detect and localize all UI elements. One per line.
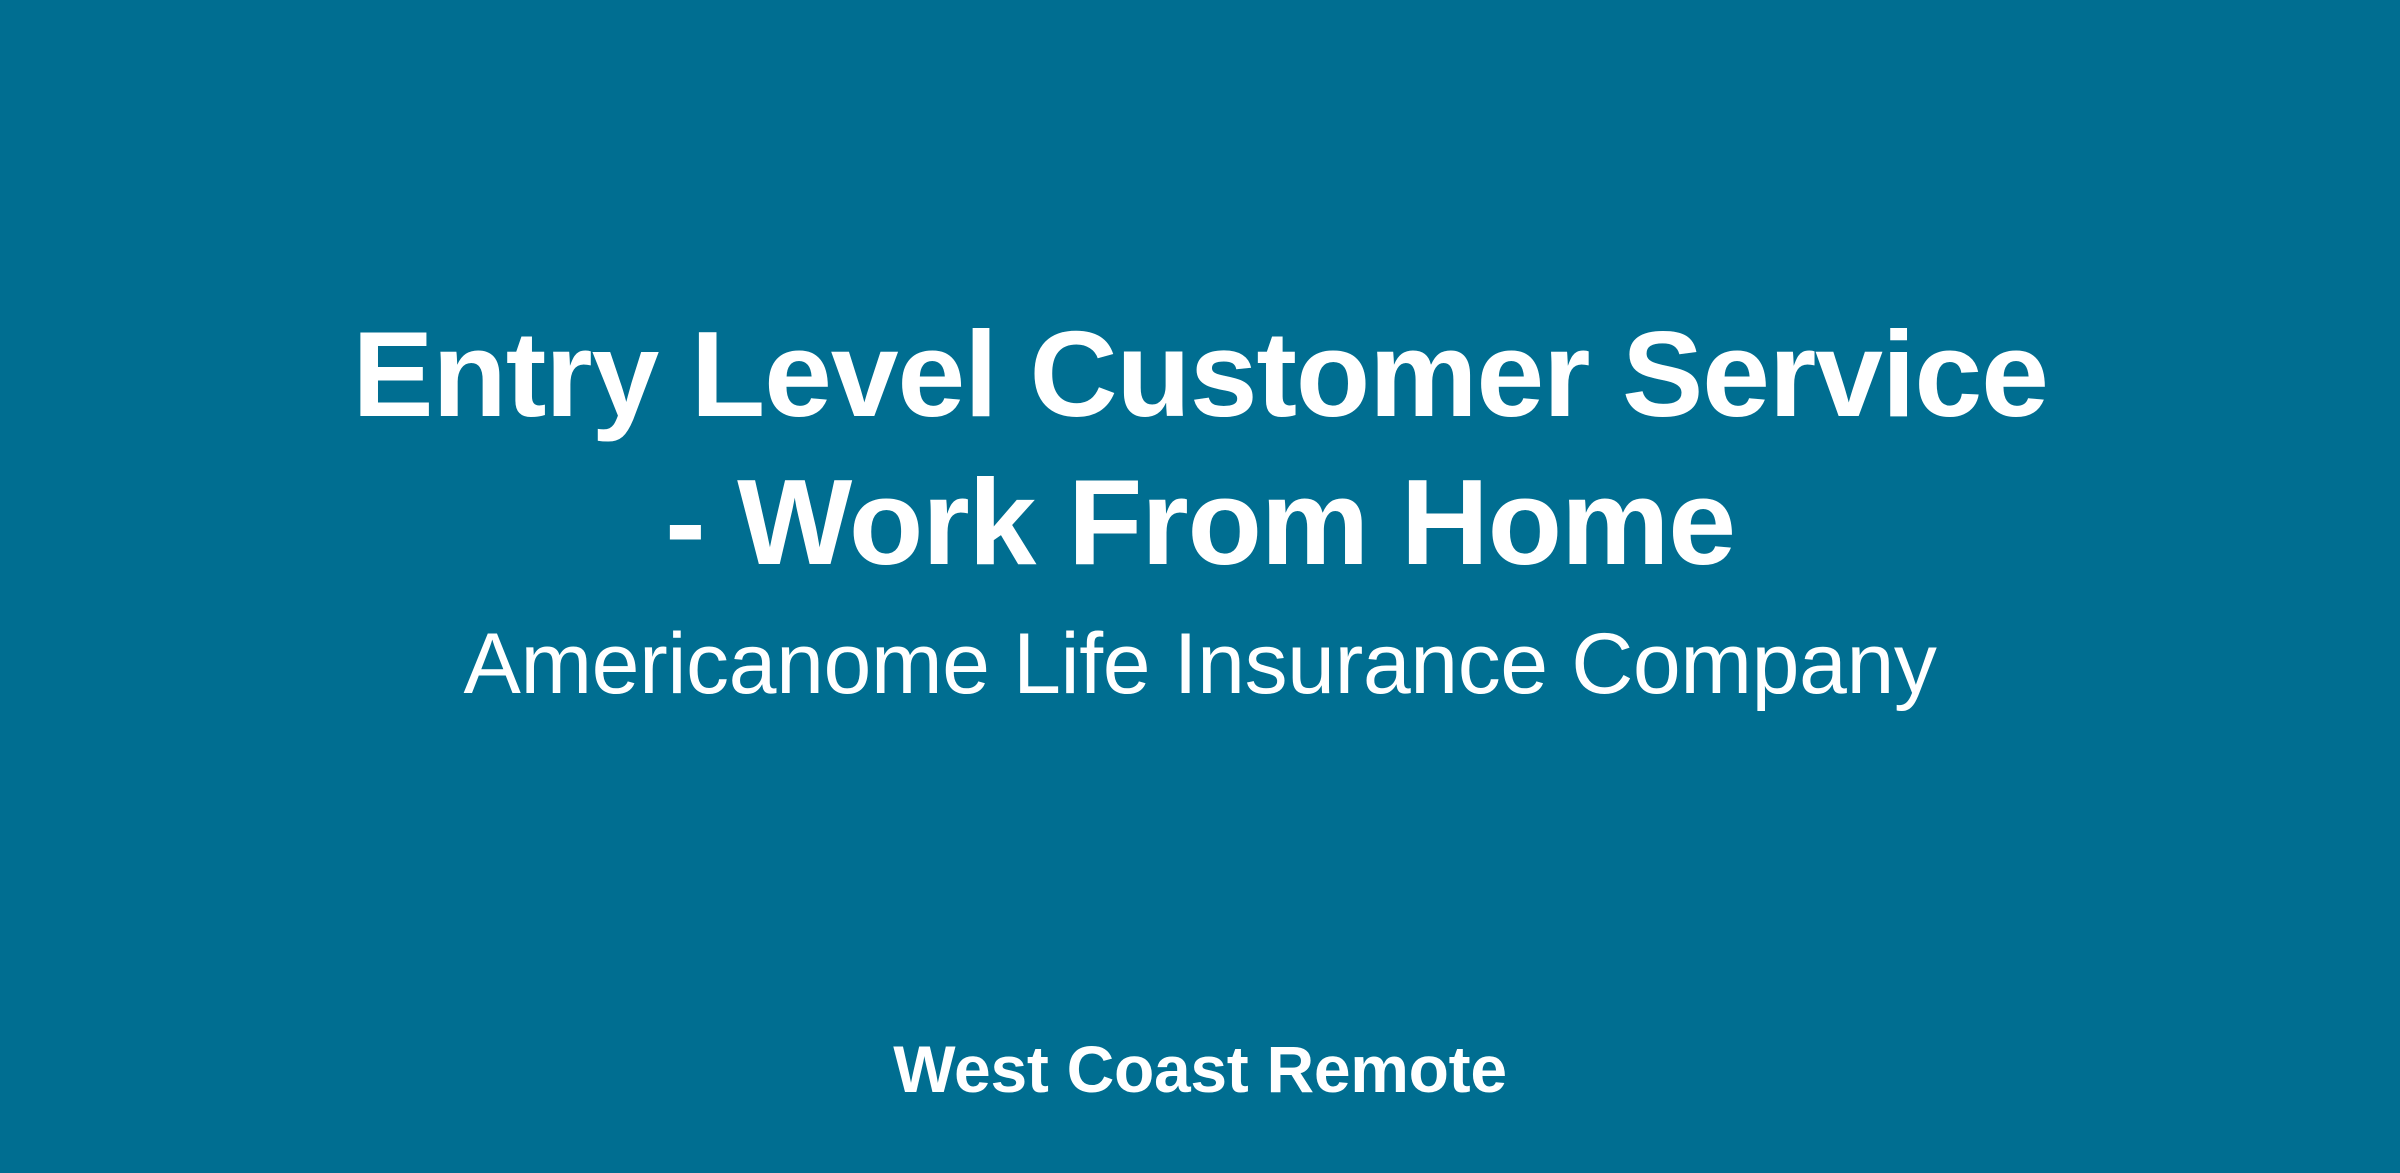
job-title: Entry Level Customer Service - Work From… [330, 300, 2070, 596]
job-location-label: West Coast Remote [0, 1032, 2400, 1106]
job-header-block: Entry Level Customer Service - Work From… [0, 300, 2400, 716]
job-posting-hero: Entry Level Customer Service - Work From… [0, 0, 2400, 1173]
company-name: Americanome Life Insurance Company [0, 612, 2400, 716]
job-location-block: West Coast Remote [0, 1032, 2400, 1106]
